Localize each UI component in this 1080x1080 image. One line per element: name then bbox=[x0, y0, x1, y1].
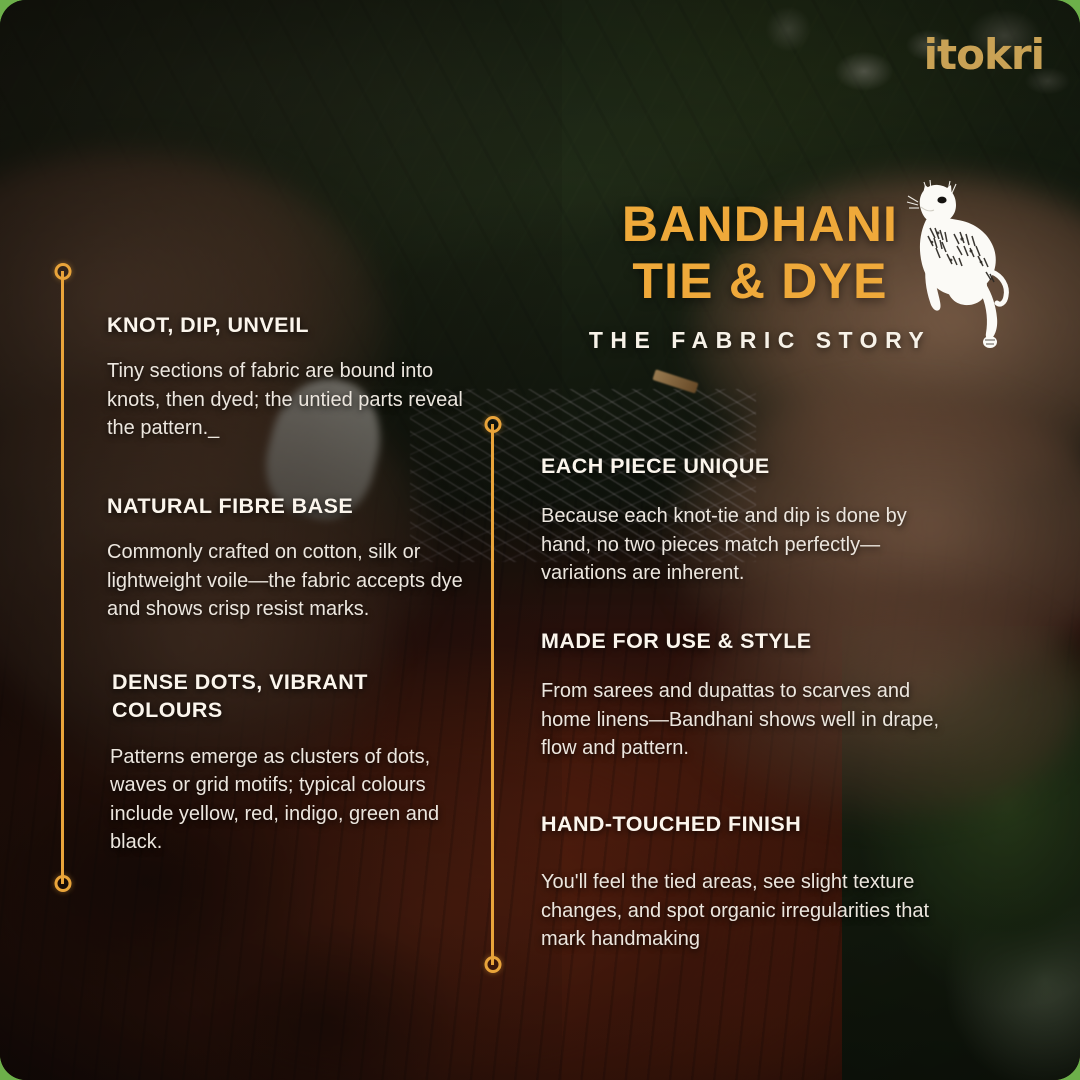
fact-heading: MADE FOR USE & STYLE bbox=[541, 627, 961, 655]
title-line-1: BANDHANI bbox=[560, 196, 960, 253]
fact-heading: DENSE DOTS, VIBRANT COLOURS bbox=[112, 668, 474, 725]
fact-block-hand-touched-finish: HAND-TOUCHED FINISH You'll feel the tied… bbox=[541, 810, 961, 954]
title-line-2: TIE & DYE bbox=[560, 253, 960, 310]
fact-body: Tiny sections of fabric are bound into k… bbox=[107, 357, 469, 442]
fact-heading: HAND-TOUCHED FINISH bbox=[541, 810, 961, 838]
connector-dot-bottom-right bbox=[484, 956, 501, 973]
fact-body: You'll feel the tied areas, see slight t… bbox=[541, 868, 961, 953]
connector-dot-top-right bbox=[484, 416, 501, 433]
fact-body: From sarees and dupattas to scarves and … bbox=[541, 677, 961, 762]
fact-block-each-piece-unique: EACH PIECE UNIQUE Because each knot-tie … bbox=[541, 452, 961, 588]
infographic-poster: itokri bbox=[0, 0, 1080, 1080]
subtitle: THE FABRIC STORY bbox=[560, 327, 960, 354]
connector-line-right bbox=[491, 424, 494, 965]
connector-line-left bbox=[61, 271, 64, 884]
fact-heading: EACH PIECE UNIQUE bbox=[541, 452, 961, 480]
fact-body: Commonly crafted on cotton, silk or ligh… bbox=[107, 538, 469, 623]
brand-logo[interactable]: itokri bbox=[924, 34, 1044, 76]
connector-dot-top-left bbox=[54, 263, 71, 280]
fact-heading: KNOT, DIP, UNVEIL bbox=[107, 311, 469, 339]
fact-block-dense-dots-vibrant-colours: DENSE DOTS, VIBRANT COLOURS Patterns eme… bbox=[112, 668, 474, 856]
fact-block-made-for-use-and-style: MADE FOR USE & STYLE From sarees and dup… bbox=[541, 627, 961, 763]
fact-block-knot-dip-unveil: KNOT, DIP, UNVEIL Tiny sections of fabri… bbox=[107, 311, 469, 443]
fact-block-natural-fibre-base: NATURAL FIBRE BASE Commonly crafted on c… bbox=[107, 492, 469, 624]
connector-dot-bottom-left bbox=[54, 875, 71, 892]
title-block: BANDHANI TIE & DYE THE FABRIC STORY bbox=[560, 196, 960, 354]
fact-body: Patterns emerge as clusters of dots, wav… bbox=[110, 743, 474, 857]
fact-heading: NATURAL FIBRE BASE bbox=[107, 492, 469, 520]
fact-body: Because each knot-tie and dip is done by… bbox=[541, 502, 961, 587]
